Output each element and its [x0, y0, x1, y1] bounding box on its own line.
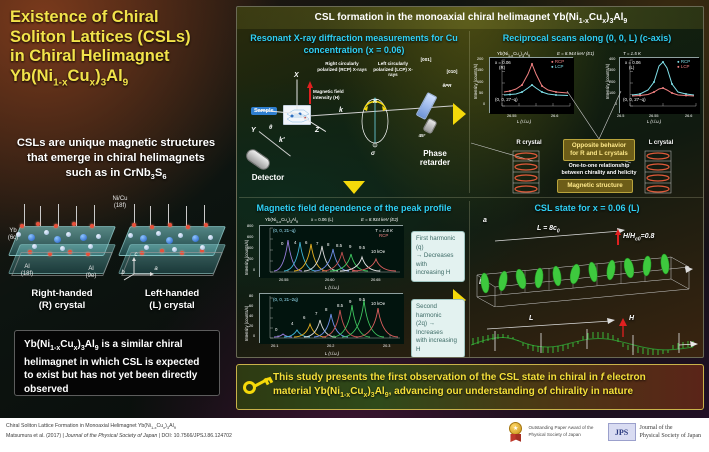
plot-r-chirality: (R) [499, 65, 505, 70]
angle-theta: θ [269, 125, 272, 131]
plot-l-xtick-1: 26.55 [649, 114, 659, 119]
sh-field-0: 0 [275, 327, 277, 332]
helix-structure-l-icon [639, 147, 679, 197]
plot-l-xtick-2: 26.6 [685, 114, 692, 119]
sh-ytick-3: 60 [249, 304, 253, 309]
wave-length-label: L [529, 315, 533, 322]
plot-l-chirality: (L) [629, 65, 634, 70]
caption-l-crystal: L crystal [621, 139, 701, 147]
plot-r-ytick-3: 150 [477, 68, 483, 73]
plot-l-ytick-3: 300 [609, 68, 615, 73]
plot-r-ytick-0: 0 [483, 102, 485, 107]
fh-ytick-1: 200 [247, 257, 253, 262]
xray-setup-diagram: Sample X Y Z k k' θ Magnetic field inten… [239, 55, 467, 193]
divider-horizontal [239, 197, 703, 198]
label-yb: Yb (6c) [4, 228, 22, 242]
fh-xtick-1: 20.60 [325, 278, 335, 283]
plot-r-xtick-1: 26.6 [551, 114, 558, 119]
theta-pr-label: θPR [439, 83, 455, 89]
section-title-reciprocal: Reciprocal scans along (0, 0, L) (c-axis… [473, 33, 701, 45]
key-icon [243, 374, 273, 400]
page-title: Existence of Chiral Soliton Lattices (CS… [10, 8, 228, 92]
sh-field-7: 9.5 [359, 297, 365, 302]
pi-label: π [373, 99, 377, 105]
main-panel-header: CSL formation in the monoaxial chiral he… [237, 7, 704, 29]
sh-field-2: 6 [303, 315, 305, 320]
left-column: Existence of Chiral Soliton Lattices (CS… [0, 0, 232, 418]
citation-text: Chiral Soliton Lattice Formation in Mono… [6, 422, 336, 441]
title-line-3: in Chiral Helimagnet [10, 47, 228, 67]
fh-pol: RCP [379, 233, 388, 238]
conclusion-line-2: material Yb(Ni1-xCux)3Al9, advancing our… [273, 385, 646, 403]
axis-triad-icon [122, 256, 156, 282]
fh-ytick-4: 800 [247, 224, 253, 229]
recip-meta-energy: E = 8.944 keV (E1) [557, 51, 594, 56]
sample-lattice-icon [284, 106, 312, 126]
sh-xtick-0: 20.1 [271, 344, 278, 349]
vector-k: k [339, 107, 343, 114]
csl-axis-a: a [483, 217, 487, 224]
fh-field-2: 6 [305, 240, 307, 245]
section-title-xray: Resonant X-ray diffraction measurements … [243, 33, 465, 56]
sh-ytick-2: 40 [249, 314, 253, 319]
magnetic-field-label: Magnetic field intensity (H) [313, 89, 355, 100]
fh-xtick-0: 20.55 [279, 278, 289, 283]
conclusion-banner: This study presents the first observatio… [236, 364, 704, 410]
direction-001-label: [001] [415, 57, 437, 63]
fd-meta-conc: x = 0.06 (L) [311, 217, 333, 222]
plot-l-xlabel: L (r.l.u.) [647, 119, 661, 124]
divider-vertical-top [469, 31, 470, 193]
award-text: Outstanding Paper Award of the Physical … [528, 425, 593, 438]
magnetic-field-arrow-icon [307, 81, 313, 88]
fh-xlabel: L (r.l.u.) [325, 285, 339, 290]
title-line-2: Soliton Lattices (CSLs) [10, 28, 228, 48]
crystal-caption-right: Right-handed (R) crystal [10, 288, 114, 312]
arrow-down-left [343, 181, 365, 194]
fh-ytick-3: 600 [247, 235, 253, 240]
plot-r-ytick-4: 200 [477, 57, 483, 62]
sh-field-4: 8 [325, 307, 327, 312]
sh-field-3: 7 [315, 311, 317, 316]
field-ratio-label: H/Hc0=0.8 [623, 233, 654, 242]
field-arrow-head-icon [615, 229, 621, 235]
label-al9e: Al (9e) [82, 266, 100, 280]
lead-line-1: CSLs are unique magnetic structures [8, 136, 224, 151]
plot-r-ytick-1: 50 [479, 91, 483, 96]
poster-root: Existence of Chiral Soliton Lattices (CS… [0, 0, 709, 452]
axis-label-c: c [132, 252, 140, 259]
caption-r-crystal: R crystal [489, 139, 569, 147]
axis-label-X: X [294, 72, 299, 79]
conclusion-text: This study presents the first observatio… [273, 371, 646, 403]
sh-field-8: 10 kOe [371, 301, 385, 306]
sh-field-6: 9 [349, 299, 351, 304]
tag-magnetic-structure: Magnetic structure [557, 179, 633, 193]
note-second-harmonic: Second harmonic (2q) → Increases with in… [411, 299, 465, 358]
sh-xtick-2: 20.3 [383, 344, 390, 349]
fh-field-4: 8 [327, 242, 329, 247]
fh-peak-label: (0, 0, 21−q) [273, 228, 296, 233]
plot-r-xlabel: L (r.l.u.) [517, 119, 531, 124]
plot-r-legend-lcp: ● LCP [551, 64, 563, 69]
main-figure-panel: CSL formation in the monoaxial chiral he… [236, 6, 704, 358]
note-first-harmonic: First harmonic (q) → Decreases with incr… [411, 231, 465, 282]
divider-vertical-bottom [469, 201, 470, 357]
sh-field-1: 4 [291, 321, 293, 326]
sh-xlabel: L (r.l.u.) [325, 351, 339, 356]
field-dependence-figure: Yb(Ni1-xCux)3Al9 x = 0.06 (L) E = 8.934 … [239, 203, 467, 355]
sh-peak-label: (0, 0, 21−2q) [273, 297, 298, 302]
award-badge: ★ Outstanding Paper Award of the Physica… [507, 422, 593, 442]
fh-ytick-0: 0 [253, 268, 255, 273]
rcp-xray-label: Right circularly polarized (RCP) X-rays [317, 61, 367, 72]
axis-label-b: b [119, 270, 127, 277]
fh-ytick-2: 400 [247, 246, 253, 251]
citation-line-1: Chiral Soliton Lattice Formation in Mono… [6, 422, 336, 432]
fh-xtick-2: 20.65 [371, 278, 381, 283]
fh-field-7: 9.5 [359, 245, 365, 250]
fh-field-6: 9 [349, 244, 351, 249]
detector-label: Detector [241, 173, 295, 182]
helix-structure-r-icon [507, 147, 547, 197]
plot-l-ytick-1: 100 [609, 91, 615, 96]
footer-bar: Chiral Soliton Lattice Formation in Mono… [0, 418, 709, 452]
medal-icon: ★ [507, 422, 524, 442]
csl-state-figure: a b c L = 8c0 H/Hc0=0.8 [471, 203, 703, 355]
phase-retarder-label: Phase retarder [407, 149, 463, 167]
lead-line-2: that emerge in chiral helimagnets [8, 151, 224, 166]
conclusion-line-1: This study presents the first observatio… [273, 371, 646, 385]
direction-010-label: [010] [441, 69, 463, 75]
fh-field-8: 10 kOe [371, 249, 385, 254]
arrow-right-top [453, 103, 466, 125]
plot-r-peak-label: (0, 0, 27−q) [495, 97, 518, 102]
citation-line-2: Matsumura et al. (2017) | Journal of the… [6, 432, 336, 441]
lattice-period-label: L = 8c0 [537, 225, 560, 234]
plot-l-ytick-0: 0 [615, 102, 617, 107]
lattice-period-arrow [491, 225, 691, 247]
tag-one-to-one: One-to-one relationship between chiralit… [545, 163, 653, 177]
recip-meta-temp: T = 1.5 K [623, 51, 641, 56]
sh-field-5: 8.5 [337, 303, 343, 308]
plot-l-xtick-0: 26.5 [617, 114, 624, 119]
crystal-caption-left: Left-handed (L) crystal [120, 288, 224, 312]
sh-ytick-1: 20 [249, 324, 253, 329]
plot-l-legend-lcp: ● LCP [677, 64, 689, 69]
jps-logo-icon: JPS [608, 423, 636, 441]
fh-field-3: 7 [316, 241, 318, 246]
fh-field-5: 8.5 [336, 243, 342, 248]
journal-name: Journal of the Physical Society of Japan [640, 424, 702, 440]
fd-meta-energy: E = 8.934 keV (E2) [361, 217, 398, 222]
lead-statement: CSLs are unique magnetic structures that… [8, 136, 224, 184]
title-line-4: Yb(Ni1-xCux)3Al9 [10, 67, 228, 93]
crystal-right-handed-graphic: Yb (6c) Al (18f) Al (9e) [10, 204, 114, 278]
plot-l-ytick-4: 400 [609, 57, 615, 62]
axis-label-a: a [152, 266, 160, 273]
plot-l-ytick-2: 200 [609, 80, 615, 85]
reciprocal-scans-figure: Yb(Ni1-xCux)3Al9 E = 8.944 keV (E1) T = … [471, 51, 703, 193]
left-conclusion-box: Yb(Ni1-xCux)3Al9 is a similar chiral hel… [14, 330, 220, 396]
vector-k-prime: k' [279, 137, 285, 144]
fh-field-1: 4 [294, 240, 296, 245]
sh-ytick-4: 80 [249, 294, 253, 299]
soliton-wave-icon [471, 307, 699, 358]
sh-xtick-1: 20.2 [327, 344, 334, 349]
sigma-label: σ [371, 151, 375, 157]
fh-field-0: 0 [281, 241, 283, 246]
lcp-xray-label: Left circularly polarized (LCP) X-rays [369, 61, 417, 78]
axis-label-Y: Y [251, 127, 256, 134]
crystal-left-handed-graphic: c b a [120, 204, 224, 278]
crystal-structure-figure: Ni/Cu (18f) [4, 196, 228, 324]
journal-badge: JPS Journal of the Physical Society of J… [608, 423, 702, 441]
wave-field-label: H [629, 315, 634, 322]
angle-45-label: 45° [415, 133, 429, 139]
plot-r-xtick-0: 26.55 [507, 114, 517, 119]
plot-l-peak-label: (0, 0, 27−q) [623, 97, 646, 102]
title-line-1: Existence of Chiral [10, 8, 228, 28]
plot-r-ytick-2: 100 [477, 80, 483, 85]
detector-icon [244, 147, 273, 173]
label-al18f: Al (18f) [18, 264, 36, 278]
footer-badges: ★ Outstanding Paper Award of the Physica… [507, 422, 701, 442]
retarder-mount-icon [422, 117, 437, 134]
sh-ytick-0: 0 [253, 334, 255, 339]
axis-label-Z: Z [315, 127, 319, 134]
csl-3d-lattice-icon [471, 245, 699, 307]
lead-line-3: such as in CrNb3S6 [8, 166, 224, 184]
